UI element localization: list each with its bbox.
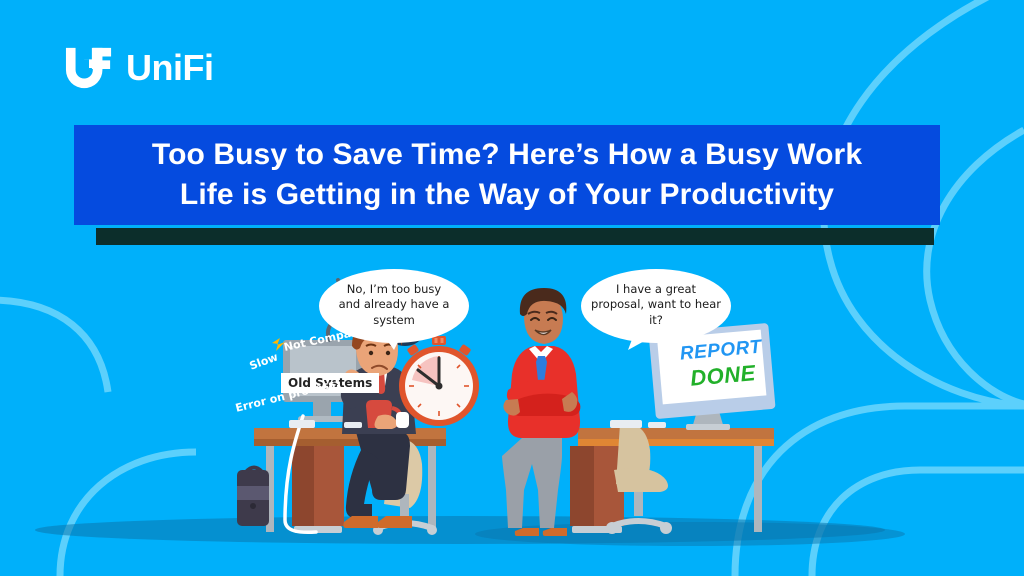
speech-right-line-2: proposal, want to hear bbox=[590, 297, 722, 312]
unifi-logo-icon bbox=[62, 44, 116, 92]
page-title-line-1: Too Busy to Save Time? Here’s How a Busy… bbox=[152, 135, 862, 175]
hero-banner-image: UniFi Too Busy to Save Time? Here’s How … bbox=[0, 0, 1024, 576]
speech-left-line-3: system bbox=[330, 313, 458, 328]
brand-logo[interactable]: UniFi bbox=[62, 44, 213, 92]
brand-name: UniFi bbox=[126, 50, 213, 86]
office-scene-illustration bbox=[0, 240, 1024, 576]
speech-right-line-3: it? bbox=[590, 313, 722, 328]
speech-right-line-1: I have a great bbox=[590, 282, 722, 297]
speech-left-line-1: No, I’m too busy bbox=[330, 282, 458, 297]
speech-left-line-2: and already have a bbox=[330, 297, 458, 312]
illustration: No, I’m too busy and already have a syst… bbox=[0, 240, 1024, 576]
page-title-line-2: Life is Getting in the Way of Your Produ… bbox=[180, 175, 834, 215]
title-banner: Too Busy to Save Time? Here’s How a Busy… bbox=[74, 125, 940, 225]
monitor-report-message: REPORT DONE bbox=[668, 336, 776, 394]
